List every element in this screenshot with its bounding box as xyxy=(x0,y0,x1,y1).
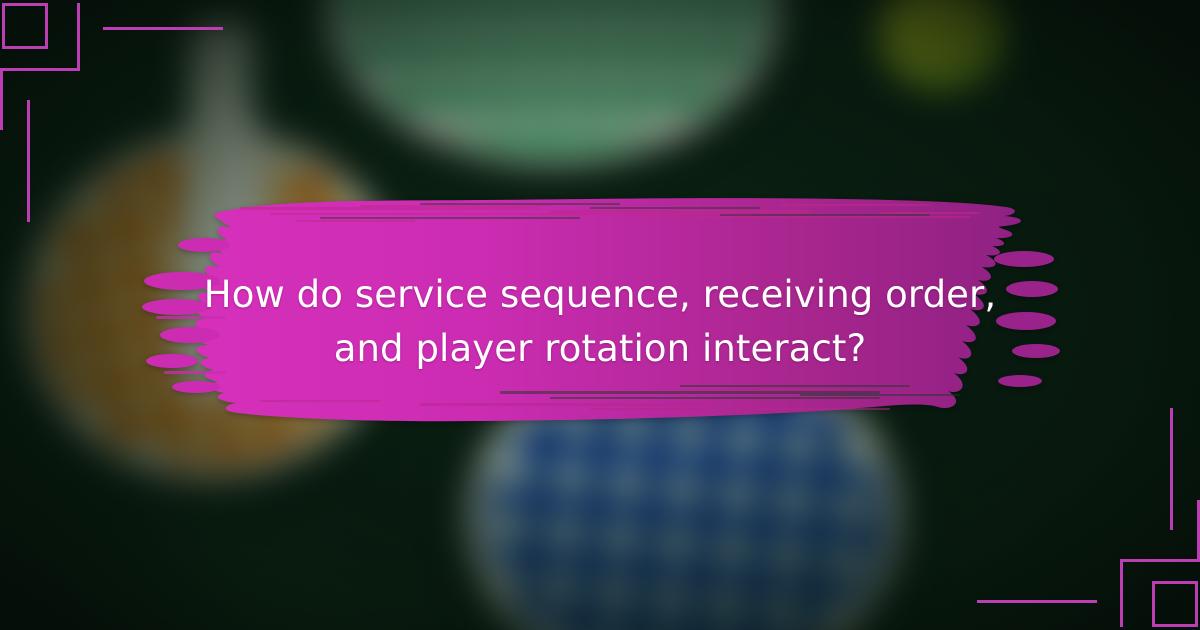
corner-elbow-continuation xyxy=(0,68,3,130)
corner-elbow-vertical xyxy=(1120,559,1123,627)
social-card: How do service sequence, receiving order… xyxy=(0,0,1200,630)
headline-text: How do service sequence, receiving order… xyxy=(180,268,1020,376)
corner-elbow-horizontal xyxy=(1120,559,1200,562)
corner-square-icon xyxy=(2,3,48,49)
corner-bracket-top-left xyxy=(0,0,190,170)
corner-accent-line-horizontal xyxy=(977,600,1097,603)
corner-elbow-horizontal xyxy=(0,68,80,71)
corner-accent-line-vertical xyxy=(27,100,30,222)
corner-accent-line-horizontal xyxy=(103,27,223,30)
corner-bracket-bottom-right xyxy=(1010,460,1200,630)
corner-square-icon xyxy=(1152,581,1198,627)
corner-accent-line-vertical xyxy=(1170,408,1173,530)
corner-elbow-vertical xyxy=(77,3,80,71)
